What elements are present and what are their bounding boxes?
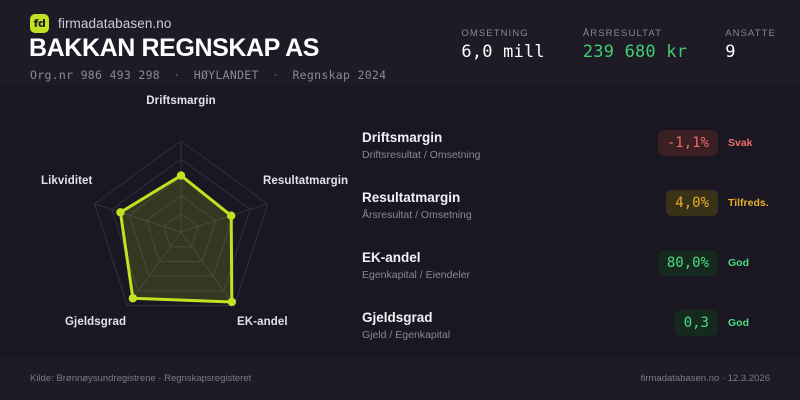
metric-right: 80,0% God xyxy=(658,250,782,276)
metric-value-badge: 4,0% xyxy=(666,190,718,216)
metric-right: -1,1% Svak xyxy=(658,130,782,156)
radar-label-ek-andel: EK-andel xyxy=(237,316,288,328)
status-badge: God xyxy=(728,317,782,329)
footer-source: Kilde: Brønnøysundregistrene · Regnskaps… xyxy=(30,373,251,384)
stat-ansatte-label: ANSATTE xyxy=(725,28,776,39)
header-stats: OMSETNING 6,0 mill ÅRSRESULTAT 239 680 k… xyxy=(461,28,776,61)
radar-chart: Driftsmargin Resultatmargin Likviditet G… xyxy=(0,86,360,358)
radar-series-area xyxy=(120,176,231,302)
stat-arsresultat-value: 239 680 kr xyxy=(583,44,687,61)
stat-arsresultat: ÅRSRESULTAT 239 680 kr xyxy=(583,28,687,61)
status-badge: God xyxy=(728,257,782,269)
brand-logo-icon: fd xyxy=(30,14,49,33)
municipality: HØYLANDET xyxy=(194,68,259,82)
page-title: BAKKAN REGNSKAP AS xyxy=(29,36,319,61)
radar-point xyxy=(228,298,236,306)
footer: Kilde: Brønnøysundregistrene · Regnskaps… xyxy=(0,358,800,400)
metric-value-badge: 0,3 xyxy=(675,310,718,336)
footer-attribution: firmadatabasen.no · 12.3.2026 xyxy=(641,373,770,384)
metric-row-ek-andel[interactable]: EK-andel Egenkapital / Eiendeler 80,0% G… xyxy=(362,250,782,290)
radar-point xyxy=(177,171,185,179)
org-number: Org.nr 986 493 298 xyxy=(30,68,160,82)
radar-label-resultatmargin: Resultatmargin xyxy=(263,175,348,187)
radar-label-driftsmargin: Driftsmargin xyxy=(146,95,216,107)
metric-right: 4,0% Tilfreds. xyxy=(666,190,782,216)
metric-row-gjeldsgrad[interactable]: Gjeldsgrad Gjeld / Egenkapital 0,3 God xyxy=(362,310,782,350)
metric-row-driftsmargin[interactable]: Driftsmargin Driftsresultat / Omsetning … xyxy=(362,130,782,170)
stat-omsetning-value: 6,0 mill xyxy=(461,44,544,61)
radar-point xyxy=(116,208,124,216)
report-card: fd firmadatabasen.no BAKKAN REGNSKAP AS … xyxy=(0,0,800,400)
meta-separator-1: · xyxy=(167,68,186,82)
stat-ansatte: ANSATTE 9 xyxy=(725,28,776,61)
stat-omsetning-label: OMSETNING xyxy=(461,28,544,39)
metric-right: 0,3 God xyxy=(675,310,782,336)
radar-label-likviditet: Likviditet xyxy=(41,175,92,187)
radar-point xyxy=(129,294,137,302)
stat-ansatte-value: 9 xyxy=(725,44,776,61)
radar-point xyxy=(227,211,235,219)
brand-name: firmadatabasen.no xyxy=(58,16,172,31)
company-meta: Org.nr 986 493 298 · HØYLANDET · Regnska… xyxy=(30,68,386,82)
brand[interactable]: fd firmadatabasen.no xyxy=(30,14,172,33)
status-badge: Svak xyxy=(728,137,782,149)
fiscal-year: Regnskap 2024 xyxy=(292,68,386,82)
body: Driftsmargin Resultatmargin Likviditet G… xyxy=(0,86,800,358)
metric-row-resultatmargin[interactable]: Resultatmargin Årsresultat / Omsetning 4… xyxy=(362,190,782,230)
status-badge: Tilfreds. xyxy=(728,197,782,209)
stat-arsresultat-label: ÅRSRESULTAT xyxy=(583,28,687,39)
metric-value-badge: -1,1% xyxy=(658,130,718,156)
stat-omsetning: OMSETNING 6,0 mill xyxy=(461,28,544,61)
header: fd firmadatabasen.no BAKKAN REGNSKAP AS … xyxy=(0,0,800,86)
metric-value-badge: 80,0% xyxy=(658,250,718,276)
radar-label-gjeldsgrad: Gjeldsgrad xyxy=(65,316,126,328)
meta-separator-2: · xyxy=(266,68,285,82)
radar-chart-svg xyxy=(0,86,360,358)
